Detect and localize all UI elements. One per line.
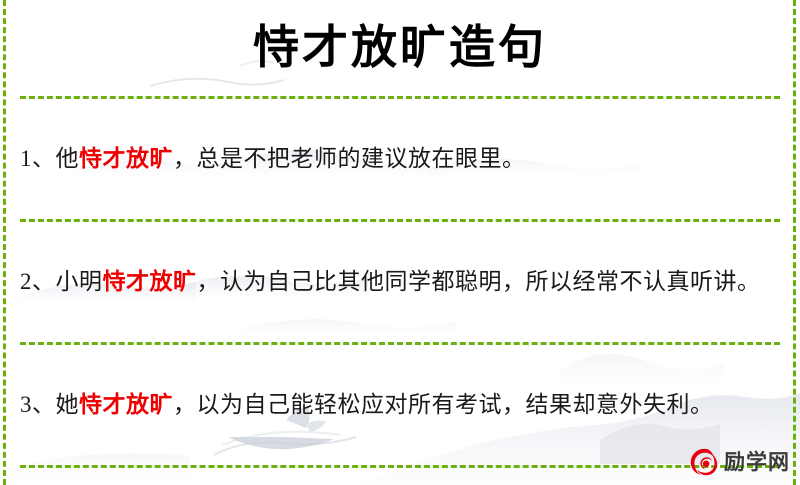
example-sentence-3: 3、她恃才放旷，以为自己能轻松应对所有考试，结果却意外失利。 bbox=[0, 368, 800, 442]
sentence-prefix-1: 他 bbox=[56, 146, 80, 171]
sentence-suffix-1: ，总是不把老师的建议放在眼里。 bbox=[173, 146, 526, 171]
divider-1 bbox=[20, 219, 780, 222]
sentence-index-2: 2、 bbox=[20, 269, 56, 294]
example-sentence-2: 2、小明恃才放旷，认为自己比其他同学都聪明，所以经常不认真听讲。 bbox=[0, 245, 800, 319]
divider-bottom bbox=[20, 465, 780, 468]
sentence-index-1: 1、 bbox=[20, 146, 56, 171]
document-page: 恃才放旷造句 1、他恃才放旷，总是不把老师的建议放在眼里。 2、小明恃才放旷，认… bbox=[0, 0, 800, 485]
flame-swirl-icon bbox=[689, 447, 719, 477]
sentence-prefix-2: 小明 bbox=[56, 269, 103, 294]
sentence-prefix-3: 她 bbox=[56, 392, 80, 417]
site-logo[interactable]: 励学网 bbox=[689, 445, 790, 479]
divider-2 bbox=[20, 342, 780, 345]
divider-top bbox=[20, 96, 780, 99]
sentence-suffix-3: ，以为自己能轻松应对所有考试，结果却意外失利。 bbox=[173, 392, 714, 417]
idiom-highlight-3: 恃才放旷 bbox=[79, 392, 173, 417]
right-dashed-rail bbox=[793, 0, 796, 485]
example-sentence-1: 1、他恃才放旷，总是不把老师的建议放在眼里。 bbox=[0, 122, 800, 196]
content-column: 恃才放旷造句 1、他恃才放旷，总是不把老师的建议放在眼里。 2、小明恃才放旷，认… bbox=[0, 0, 800, 468]
idiom-highlight-1: 恃才放旷 bbox=[79, 146, 173, 171]
sentence-suffix-2: ，认为自己比其他同学都聪明，所以经常不认真听讲。 bbox=[197, 269, 761, 294]
sentence-index-3: 3、 bbox=[20, 392, 56, 417]
title-block: 恃才放旷造句 bbox=[0, 0, 800, 96]
idiom-highlight-2: 恃才放旷 bbox=[103, 269, 197, 294]
page-title: 恃才放旷造句 bbox=[253, 25, 547, 71]
logo-text: 励学网 bbox=[724, 452, 790, 473]
left-dashed-rail bbox=[3, 0, 6, 485]
